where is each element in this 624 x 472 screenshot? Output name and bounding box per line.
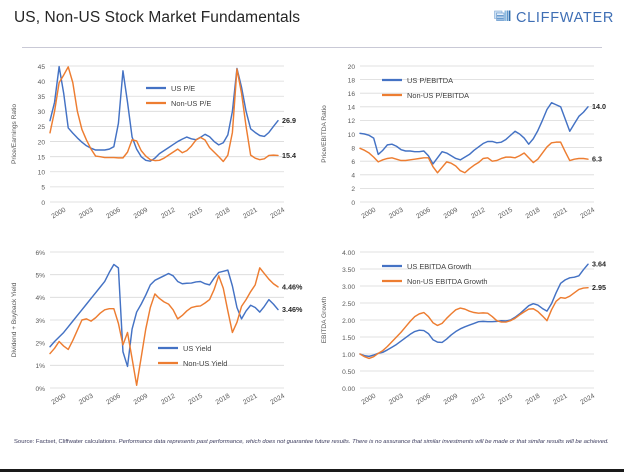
y-axis-label: Price/EBITDA Ratio <box>321 105 328 163</box>
y-tick-label: 4% <box>35 295 45 302</box>
y-tick-label: 10 <box>348 132 356 139</box>
y-axis-label: Dividend + Buyback Yield <box>11 282 18 357</box>
x-tick-label: 2024 <box>579 207 596 221</box>
cliffwater-logo-icon <box>494 9 511 26</box>
y-tick-label: 5% <box>35 272 45 279</box>
x-tick-label: 2015 <box>497 207 514 221</box>
x-tick-label: 2021 <box>242 393 259 407</box>
x-tick-label: 2018 <box>215 393 232 407</box>
y-tick-label: 10 <box>38 170 46 177</box>
y-tick-label: 30 <box>38 109 46 116</box>
x-tick-label: 2006 <box>415 207 432 221</box>
series-end-label: 6.3 <box>592 155 602 164</box>
x-tick-label: 2012 <box>160 393 177 407</box>
x-tick-label: 2006 <box>105 207 122 221</box>
chart-panel-ebitda-growth: 0.000.501.001.502.002.503.003.504.002000… <box>316 242 622 428</box>
x-tick-label: 2006 <box>415 393 432 407</box>
series-line <box>360 103 588 164</box>
y-tick-label: 0.50 <box>342 369 355 376</box>
x-tick-label: 2018 <box>525 207 542 221</box>
footnote: Source: Factset, Cliffwater calculations… <box>14 437 614 447</box>
y-tick-label: 2.00 <box>342 318 355 325</box>
y-tick-label: 1.50 <box>342 335 355 342</box>
y-tick-label: 14 <box>348 105 356 112</box>
chart-panel-p-ebitda-ratio: 0246810121416182020002003200620092012201… <box>316 56 622 242</box>
series-end-label: 2.95 <box>592 283 606 292</box>
y-tick-label: 2 <box>351 186 355 193</box>
header-divider <box>22 47 602 48</box>
series-line <box>360 142 588 173</box>
x-tick-label: 2024 <box>269 393 286 407</box>
legend-label: US P/E <box>171 84 195 93</box>
x-tick-label: 2009 <box>133 207 150 221</box>
x-tick-label: 2015 <box>497 393 514 407</box>
y-tick-label: 2% <box>35 340 45 347</box>
y-tick-label: 0% <box>35 386 45 393</box>
x-tick-label: 2018 <box>525 393 542 407</box>
brand-name: CLIFFWATER <box>516 10 614 26</box>
legend-label: Non-US Yield <box>183 359 227 368</box>
x-tick-label: 2012 <box>470 393 487 407</box>
y-tick-label: 1.00 <box>342 352 355 359</box>
y-tick-label: 4 <box>351 173 355 180</box>
brand-lockup: CLIFFWATER <box>494 9 614 26</box>
footnote-disclaimer: Performance data represents past perform… <box>117 439 609 445</box>
x-tick-label: 2021 <box>242 207 259 221</box>
chart-grid: 0510152025303540452000200320062009201220… <box>0 52 624 430</box>
chart-panel-dividend-buyback-yield: 0%1%2%3%4%5%6%20002003200620092012201520… <box>6 242 312 428</box>
y-tick-label: 35 <box>38 94 46 101</box>
y-tick-label: 8 <box>351 145 355 152</box>
x-tick-label: 2003 <box>78 393 95 407</box>
y-tick-label: 5 <box>41 185 45 192</box>
chart-panel-pe-ratio: 0510152025303540452000200320062009201220… <box>6 56 312 242</box>
x-tick-label: 2021 <box>552 207 569 221</box>
y-tick-label: 0.00 <box>342 386 355 393</box>
series-end-label: 14.0 <box>592 102 606 111</box>
y-tick-label: 4.00 <box>342 250 355 257</box>
y-tick-label: 3.50 <box>342 267 355 274</box>
x-tick-label: 2009 <box>133 393 150 407</box>
x-tick-label: 2003 <box>388 207 405 221</box>
y-tick-label: 20 <box>38 139 46 146</box>
y-tick-label: 6% <box>35 250 45 257</box>
y-tick-label: 25 <box>38 124 46 131</box>
legend-label: US EBITDA Growth <box>407 262 471 271</box>
x-tick-label: 2012 <box>160 207 177 221</box>
series-line <box>50 268 278 385</box>
x-tick-label: 2018 <box>215 207 232 221</box>
x-tick-label: 2009 <box>443 393 460 407</box>
x-tick-label: 2015 <box>187 393 204 407</box>
slide-root: US, Non-US Stock Market Fundamentals CLI… <box>0 0 624 472</box>
x-tick-label: 2000 <box>361 207 378 221</box>
x-tick-label: 2000 <box>51 393 68 407</box>
page-title: US, Non-US Stock Market Fundamentals <box>14 9 300 27</box>
x-tick-label: 2003 <box>388 393 405 407</box>
legend-label: US Yield <box>183 344 211 353</box>
y-tick-label: 1% <box>35 363 45 370</box>
x-tick-label: 2024 <box>269 207 286 221</box>
y-tick-label: 12 <box>348 118 356 125</box>
x-tick-label: 2024 <box>579 393 596 407</box>
legend-label: Non-US EBITDA Growth <box>407 277 488 286</box>
y-tick-label: 15 <box>38 154 46 161</box>
series-end-label: 15.4 <box>282 151 296 160</box>
y-tick-label: 45 <box>38 64 46 71</box>
series-line <box>50 264 278 366</box>
y-tick-label: 20 <box>348 64 356 71</box>
y-tick-label: 2.50 <box>342 301 355 308</box>
series-end-label: 3.46% <box>282 305 303 314</box>
legend-label: Non-US P/EBITDA <box>407 91 469 100</box>
x-tick-label: 2015 <box>187 207 204 221</box>
series-end-label: 4.46% <box>282 282 303 291</box>
y-tick-label: 3% <box>35 318 45 325</box>
x-tick-label: 2012 <box>470 207 487 221</box>
y-tick-label: 18 <box>348 77 356 84</box>
y-tick-label: 0 <box>351 200 355 207</box>
series-end-label: 26.9 <box>282 116 296 125</box>
x-tick-label: 2009 <box>443 207 460 221</box>
footnote-source: Source: Factset, Cliffwater calculations… <box>14 439 117 445</box>
legend-label: Non-US P/E <box>171 99 211 108</box>
y-axis-label: Price/Earnings Ratio <box>11 104 18 164</box>
x-tick-label: 2003 <box>78 207 95 221</box>
y-tick-label: 0 <box>41 200 45 207</box>
slide-header: US, Non-US Stock Market Fundamentals CLI… <box>0 0 624 46</box>
series-end-label: 3.64 <box>592 260 606 269</box>
x-tick-label: 2021 <box>552 393 569 407</box>
legend-label: US P/EBITDA <box>407 76 453 85</box>
y-tick-label: 16 <box>348 91 356 98</box>
x-tick-label: 2006 <box>105 393 122 407</box>
x-tick-label: 2000 <box>361 393 378 407</box>
y-tick-label: 40 <box>38 79 46 86</box>
x-tick-label: 2000 <box>51 207 68 221</box>
y-tick-label: 6 <box>351 159 355 166</box>
y-tick-label: 3.00 <box>342 284 355 291</box>
y-axis-label: EBITDA Growth <box>321 296 328 343</box>
